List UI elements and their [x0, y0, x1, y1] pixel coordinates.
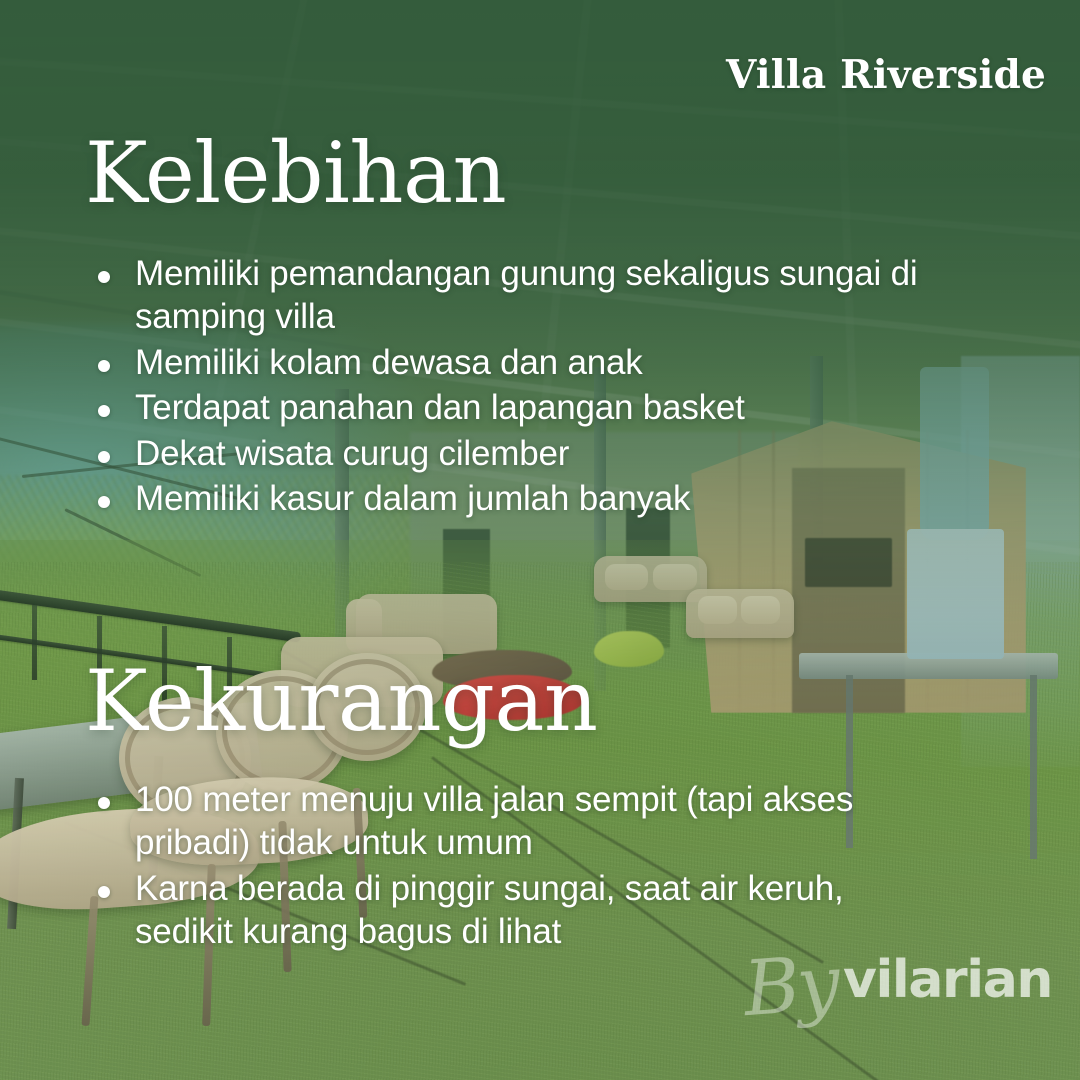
section-heading-kelebihan: Kelebihan [85, 134, 506, 214]
list-item: 100 meter menuju villa jalan sempit (tap… [90, 778, 940, 865]
watermark-by-text: By [742, 945, 840, 1027]
list-item: Dekat wisata curug cilember [90, 432, 920, 475]
watermark-brand-name: vilarian [843, 954, 1052, 1006]
list-item: Terdapat panahan dan lapangan basket [90, 386, 920, 429]
list-item: Memiliki kolam dewasa dan anak [90, 341, 920, 384]
cons-list: 100 meter menuju villa jalan sempit (tap… [90, 778, 940, 956]
pros-list: Memiliki pemandangan gunung sekaligus su… [90, 252, 920, 522]
section-heading-kekurangan: Kekurangan [85, 662, 598, 742]
watermark: By vilarian [744, 942, 1052, 1018]
brand-title: Villa Riverside [726, 52, 1046, 98]
list-item: Memiliki kasur dalam jumlah banyak [90, 477, 920, 520]
poster: Villa Riverside Kelebihan Memiliki peman… [0, 0, 1080, 1080]
list-item: Memiliki pemandangan gunung sekaligus su… [90, 252, 920, 339]
